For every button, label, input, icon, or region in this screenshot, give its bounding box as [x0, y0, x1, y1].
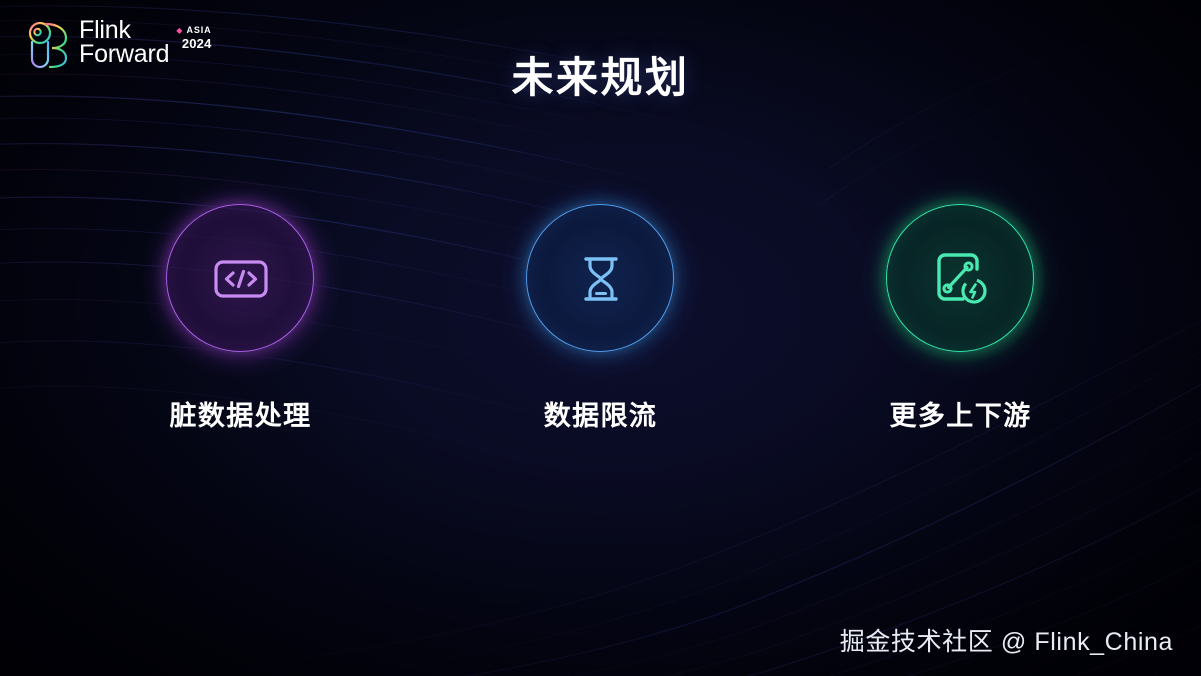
code-brackets-icon	[209, 247, 273, 311]
flink-forward-logo[interactable]: Flink Forward ◆ ASIA 2024	[26, 18, 212, 70]
badge-year: 2024	[176, 37, 211, 50]
feature-item-dirty-data[interactable]: 脏数据处理	[143, 196, 339, 433]
feature-label: 脏数据处理	[143, 394, 339, 433]
badge-disc	[158, 196, 324, 362]
feature-label: 更多上下游	[863, 394, 1059, 433]
feature-badge	[518, 196, 684, 362]
badge-region: ◆ ASIA	[176, 25, 211, 35]
watermark-text: 掘金技术社区 @ Flink_China	[840, 622, 1173, 658]
slide-canvas: Flink Forward ◆ ASIA 2024 未来规划	[0, 0, 1201, 676]
logo-wordmark: Flink Forward	[79, 18, 169, 66]
feature-label: 数据限流	[503, 394, 699, 433]
data-flow-sync-icon	[929, 247, 993, 311]
feature-row: 脏数据处理 数据限流	[0, 196, 1201, 433]
badge-region-label: ASIA	[186, 25, 211, 35]
badge-diamond-icon: ◆	[176, 26, 183, 35]
hourglass-icon	[569, 247, 633, 311]
feature-item-rate-limit[interactable]: 数据限流	[503, 196, 699, 433]
event-badge: ◆ ASIA 2024	[176, 21, 211, 51]
flink-squirrel-logo-icon	[26, 20, 70, 70]
badge-disc	[518, 196, 684, 362]
feature-item-connectors[interactable]: 更多上下游	[863, 196, 1059, 433]
badge-disc	[878, 196, 1044, 362]
feature-badge	[158, 196, 324, 362]
logo-line-2: Forward	[79, 42, 169, 66]
feature-badge	[878, 196, 1044, 362]
